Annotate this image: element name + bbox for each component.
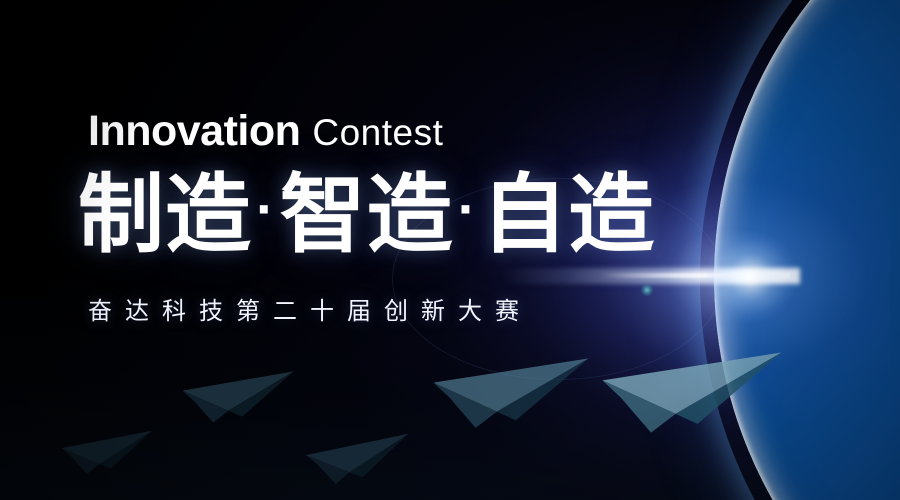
eyebrow-light-word: Contest — [312, 112, 443, 153]
poster-subtitle: 奋达科技第二十届创新大赛 — [88, 300, 532, 324]
page-title: 制造·智造·自造 — [78, 172, 655, 258]
headline-word-3: 自造 — [481, 167, 655, 263]
eyebrow-strong-word: Innovation — [88, 107, 300, 155]
innovation-contest-poster: InnovationContest 制造·智造·自造 奋达科技第二十届创新大赛 — [0, 0, 900, 500]
headline-word-2: 智造 — [280, 167, 454, 263]
headline-separator-2: · — [454, 177, 482, 240]
poster-text-block: InnovationContest 制造·智造·自造 奋达科技第二十届创新大赛 — [0, 0, 700, 500]
headline-word-1: 制造 — [78, 167, 252, 263]
eyebrow-title: InnovationContest — [88, 110, 443, 153]
headline-separator-1: · — [252, 177, 280, 240]
